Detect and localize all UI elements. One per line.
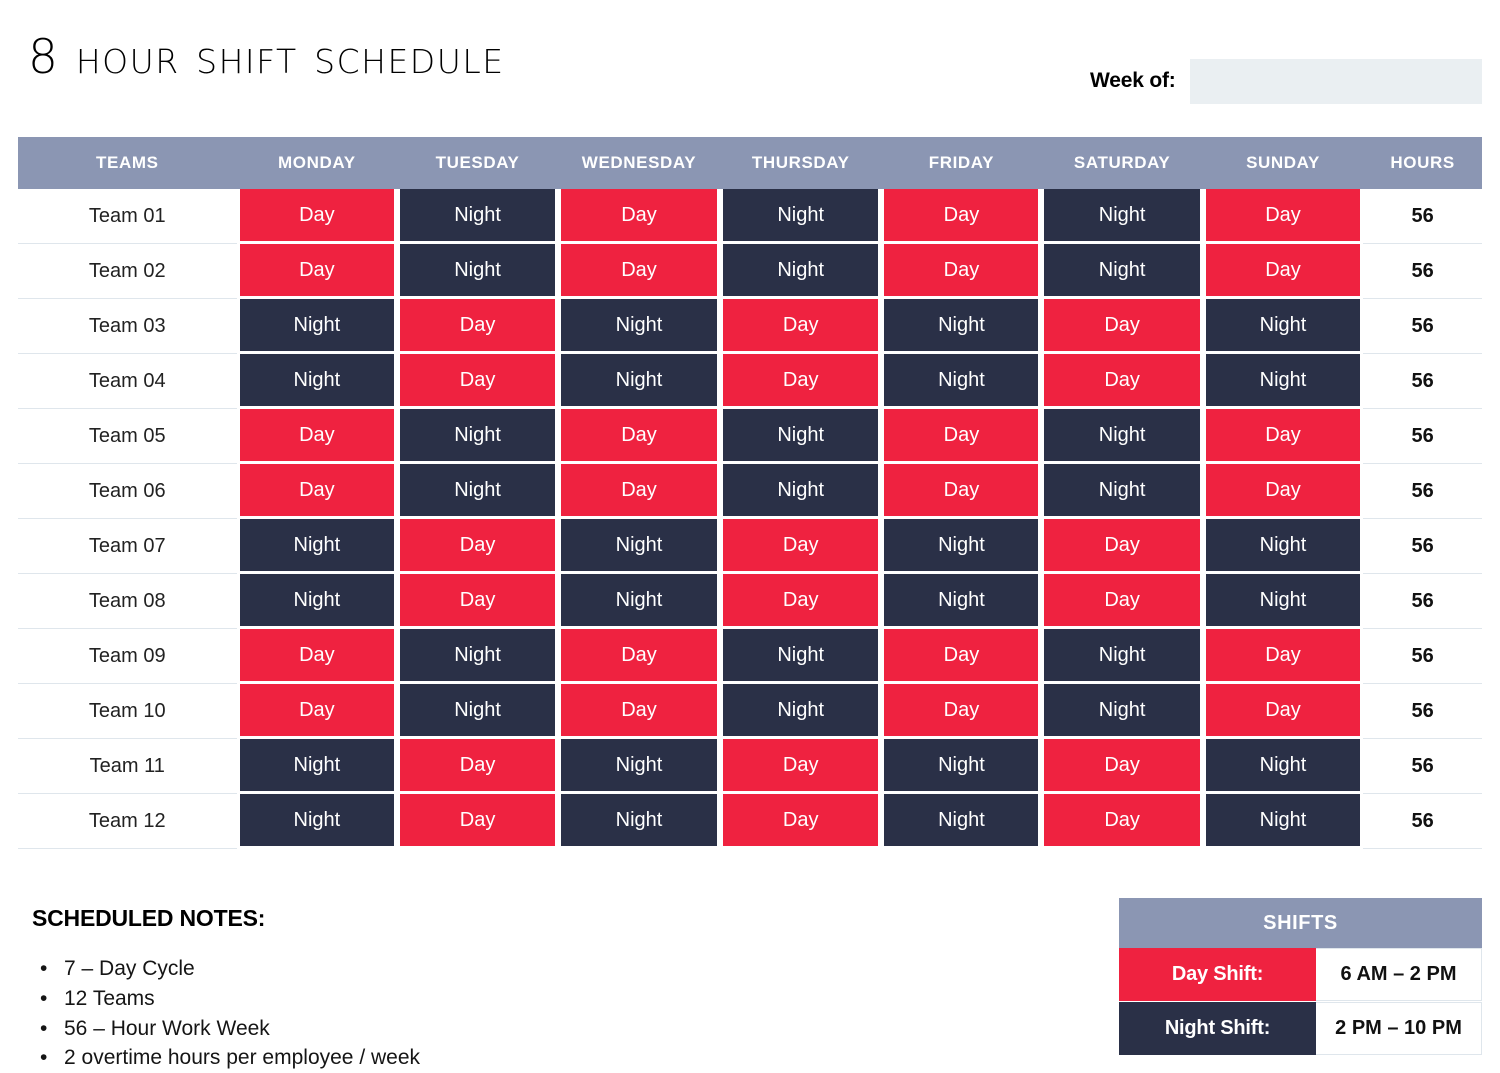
- table-row: Team 12NightDayNightDayNightDayNight56: [18, 794, 1482, 849]
- note-item: 2 overtime hours per employee / week: [32, 1043, 732, 1073]
- shift-cell-night[interactable]: Night: [397, 464, 558, 519]
- shift-cell-day[interactable]: Day: [237, 409, 398, 464]
- shift-cell-day[interactable]: Day: [558, 684, 720, 739]
- table-header-row: TEAMSMONDAYTUESDAYWEDNESDAYTHURSDAYFRIDA…: [18, 137, 1482, 189]
- shift-cell-night[interactable]: Night: [237, 574, 398, 629]
- column-header-thursday: THURSDAY: [720, 137, 881, 189]
- team-name-cell: Team 11: [18, 739, 237, 794]
- hours-cell: 56: [1363, 684, 1482, 739]
- shift-cell-day[interactable]: Day: [397, 574, 558, 629]
- hours-cell: 56: [1363, 464, 1482, 519]
- shift-cell-night[interactable]: Night: [881, 794, 1041, 849]
- team-name-cell: Team 10: [18, 684, 237, 739]
- shift-cell-night[interactable]: Night: [237, 519, 398, 574]
- hours-cell: 56: [1363, 519, 1482, 574]
- shift-cell-day[interactable]: Day: [1041, 739, 1202, 794]
- shift-cell-day[interactable]: Day: [558, 409, 720, 464]
- shift-cell-day[interactable]: Day: [237, 189, 398, 244]
- shift-cell-day[interactable]: Day: [397, 519, 558, 574]
- shift-cell-night[interactable]: Night: [881, 574, 1041, 629]
- shift-cell-night[interactable]: Night: [558, 519, 720, 574]
- shift-cell-day[interactable]: Day: [881, 684, 1041, 739]
- table-row: Team 10DayNightDayNightDayNightDay56: [18, 684, 1482, 739]
- week-of-group: Week of:: [1090, 58, 1482, 104]
- hours-cell: 56: [1363, 299, 1482, 354]
- shifts-legend: SHIFTS Day Shift:6 AM – 2 PMNight Shift:…: [1119, 898, 1482, 1056]
- shifts-legend-title: SHIFTS: [1119, 898, 1482, 948]
- shift-cell-day[interactable]: Day: [720, 354, 881, 409]
- note-item: 7 – Day Cycle: [32, 954, 732, 984]
- table-row: Team 02DayNightDayNightDayNightDay56: [18, 244, 1482, 299]
- shift-cell-day[interactable]: Day: [237, 684, 398, 739]
- hours-cell: 56: [1363, 409, 1482, 464]
- shift-cell-day[interactable]: Day: [720, 794, 881, 849]
- shift-cell-day[interactable]: Day: [720, 519, 881, 574]
- shift-cell-night[interactable]: Night: [1203, 794, 1363, 849]
- shift-cell-day[interactable]: Day: [558, 189, 720, 244]
- shift-cell-day[interactable]: Day: [397, 299, 558, 354]
- hours-cell: 56: [1363, 244, 1482, 299]
- shift-cell-day[interactable]: Day: [1041, 299, 1202, 354]
- hours-cell: 56: [1363, 629, 1482, 684]
- note-item: 56 – Hour Work Week: [32, 1014, 732, 1044]
- shift-cell-day[interactable]: Day: [1203, 189, 1363, 244]
- shift-cell-night[interactable]: Night: [397, 244, 558, 299]
- shift-cell-night[interactable]: Night: [1041, 189, 1202, 244]
- table-row: Team 03NightDayNightDayNightDayNight56: [18, 299, 1482, 354]
- hours-cell: 56: [1363, 794, 1482, 849]
- shift-cell-day[interactable]: Day: [881, 629, 1041, 684]
- shift-cell-day[interactable]: Day: [558, 629, 720, 684]
- shift-legend-row: Night Shift:2 PM – 10 PM: [1119, 1002, 1482, 1056]
- shift-legend-row: Day Shift:6 AM – 2 PM: [1119, 948, 1482, 1002]
- team-name-cell: Team 05: [18, 409, 237, 464]
- shift-cell-night[interactable]: Night: [1203, 574, 1363, 629]
- shift-cell-day[interactable]: Day: [397, 794, 558, 849]
- shift-cell-night[interactable]: Night: [397, 189, 558, 244]
- shift-cell-night[interactable]: Night: [237, 794, 398, 849]
- note-item: 12 Teams: [32, 984, 732, 1014]
- shift-cell-night[interactable]: Night: [1203, 299, 1363, 354]
- shift-cell-day[interactable]: Day: [720, 739, 881, 794]
- column-header-teams: TEAMS: [18, 137, 237, 189]
- shift-cell-day[interactable]: Day: [1203, 629, 1363, 684]
- shift-legend-time-night: 2 PM – 10 PM: [1316, 1002, 1482, 1055]
- team-name-cell: Team 06: [18, 464, 237, 519]
- shift-cell-day[interactable]: Day: [397, 354, 558, 409]
- shift-cell-day[interactable]: Day: [720, 299, 881, 354]
- table-row: Team 04NightDayNightDayNightDayNight56: [18, 354, 1482, 409]
- shift-cell-night[interactable]: Night: [720, 629, 881, 684]
- column-header-tuesday: TUESDAY: [397, 137, 558, 189]
- shift-cell-night[interactable]: Night: [397, 629, 558, 684]
- shift-cell-day[interactable]: Day: [1041, 519, 1202, 574]
- shift-cell-day[interactable]: Day: [881, 464, 1041, 519]
- team-name-cell: Team 07: [18, 519, 237, 574]
- shift-cell-night[interactable]: Night: [237, 739, 398, 794]
- shift-cell-night[interactable]: Night: [881, 299, 1041, 354]
- shift-cell-night[interactable]: Night: [558, 354, 720, 409]
- column-header-saturday: SATURDAY: [1041, 137, 1202, 189]
- shift-cell-night[interactable]: Night: [558, 299, 720, 354]
- shift-cell-day[interactable]: Day: [1203, 684, 1363, 739]
- shift-cell-night[interactable]: Night: [1041, 464, 1202, 519]
- page-title: 8 Hour Shift Schedule: [28, 34, 505, 81]
- shift-cell-night[interactable]: Night: [881, 519, 1041, 574]
- scheduled-notes-section: SCHEDULED NOTES: 7 – Day Cycle12 Teams56…: [32, 905, 732, 1073]
- shift-cell-day[interactable]: Day: [1203, 244, 1363, 299]
- shift-cell-night[interactable]: Night: [397, 409, 558, 464]
- shift-cell-day[interactable]: Day: [881, 189, 1041, 244]
- shift-cell-night[interactable]: Night: [397, 684, 558, 739]
- hours-cell: 56: [1363, 354, 1482, 409]
- shift-legend-name-day: Day Shift:: [1119, 948, 1316, 1001]
- column-header-sunday: SUNDAY: [1203, 137, 1363, 189]
- hours-cell: 56: [1363, 739, 1482, 794]
- shift-cell-night[interactable]: Night: [1203, 519, 1363, 574]
- shift-cell-day[interactable]: Day: [1203, 409, 1363, 464]
- shift-cell-night[interactable]: Night: [237, 354, 398, 409]
- team-name-cell: Team 12: [18, 794, 237, 849]
- page-header: 8 Hour Shift Schedule Week of:: [0, 0, 1500, 130]
- column-header-wednesday: WEDNESDAY: [558, 137, 720, 189]
- table-row: Team 01DayNightDayNightDayNightDay56: [18, 189, 1482, 244]
- table-row: Team 05DayNightDayNightDayNightDay56: [18, 409, 1482, 464]
- table-row: Team 11NightDayNightDayNightDayNight56: [18, 739, 1482, 794]
- shift-cell-day[interactable]: Day: [1041, 794, 1202, 849]
- table-body: Team 01DayNightDayNightDayNightDay56Team…: [18, 189, 1482, 849]
- shift-cell-day[interactable]: Day: [1041, 574, 1202, 629]
- shift-cell-night[interactable]: Night: [720, 244, 881, 299]
- shift-cell-night[interactable]: Night: [1041, 244, 1202, 299]
- shift-cell-day[interactable]: Day: [397, 739, 558, 794]
- shift-cell-night[interactable]: Night: [1203, 354, 1363, 409]
- shift-cell-day[interactable]: Day: [558, 244, 720, 299]
- shift-cell-night[interactable]: Night: [558, 739, 720, 794]
- column-header-friday: FRIDAY: [881, 137, 1041, 189]
- shift-cell-night[interactable]: Night: [881, 354, 1041, 409]
- shift-legend-time-day: 6 AM – 2 PM: [1316, 948, 1482, 1001]
- hours-cell: 56: [1363, 189, 1482, 244]
- shift-cell-day[interactable]: Day: [881, 244, 1041, 299]
- shift-cell-night[interactable]: Night: [1041, 629, 1202, 684]
- shift-cell-day[interactable]: Day: [1041, 354, 1202, 409]
- shift-cell-night[interactable]: Night: [720, 409, 881, 464]
- shift-cell-night[interactable]: Night: [558, 794, 720, 849]
- shift-cell-night[interactable]: Night: [237, 299, 398, 354]
- shift-cell-night[interactable]: Night: [1041, 409, 1202, 464]
- team-name-cell: Team 04: [18, 354, 237, 409]
- column-header-hours: HOURS: [1363, 137, 1482, 189]
- table-row: Team 06DayNightDayNightDayNightDay56: [18, 464, 1482, 519]
- team-name-cell: Team 02: [18, 244, 237, 299]
- shift-cell-day[interactable]: Day: [720, 574, 881, 629]
- notes-title: SCHEDULED NOTES:: [32, 905, 732, 932]
- shift-cell-night[interactable]: Night: [720, 464, 881, 519]
- shift-cell-day[interactable]: Day: [1203, 464, 1363, 519]
- shifts-legend-rows: Day Shift:6 AM – 2 PMNight Shift:2 PM – …: [1119, 948, 1482, 1056]
- shift-cell-day[interactable]: Day: [237, 464, 398, 519]
- shift-cell-day[interactable]: Day: [237, 629, 398, 684]
- shift-cell-night[interactable]: Night: [720, 189, 881, 244]
- shift-cell-night[interactable]: Night: [720, 684, 881, 739]
- notes-list: 7 – Day Cycle12 Teams56 – Hour Work Week…: [32, 954, 732, 1073]
- week-of-label: Week of:: [1090, 69, 1176, 93]
- table-row: Team 08NightDayNightDayNightDayNight56: [18, 574, 1482, 629]
- shift-cell-day[interactable]: Day: [237, 244, 398, 299]
- week-of-input[interactable]: [1190, 59, 1482, 104]
- team-name-cell: Team 03: [18, 299, 237, 354]
- shift-cell-day[interactable]: Day: [881, 409, 1041, 464]
- table-row: Team 07NightDayNightDayNightDayNight56: [18, 519, 1482, 574]
- shift-schedule-table: TEAMSMONDAYTUESDAYWEDNESDAYTHURSDAYFRIDA…: [18, 137, 1482, 849]
- shift-cell-day[interactable]: Day: [558, 464, 720, 519]
- shift-cell-night[interactable]: Night: [1041, 684, 1202, 739]
- table-row: Team 09DayNightDayNightDayNightDay56: [18, 629, 1482, 684]
- team-name-cell: Team 01: [18, 189, 237, 244]
- column-header-monday: MONDAY: [237, 137, 398, 189]
- shift-legend-name-night: Night Shift:: [1119, 1002, 1316, 1055]
- hours-cell: 56: [1363, 574, 1482, 629]
- shift-cell-night[interactable]: Night: [881, 739, 1041, 794]
- team-name-cell: Team 08: [18, 574, 237, 629]
- team-name-cell: Team 09: [18, 629, 237, 684]
- shift-cell-night[interactable]: Night: [558, 574, 720, 629]
- shift-cell-night[interactable]: Night: [1203, 739, 1363, 794]
